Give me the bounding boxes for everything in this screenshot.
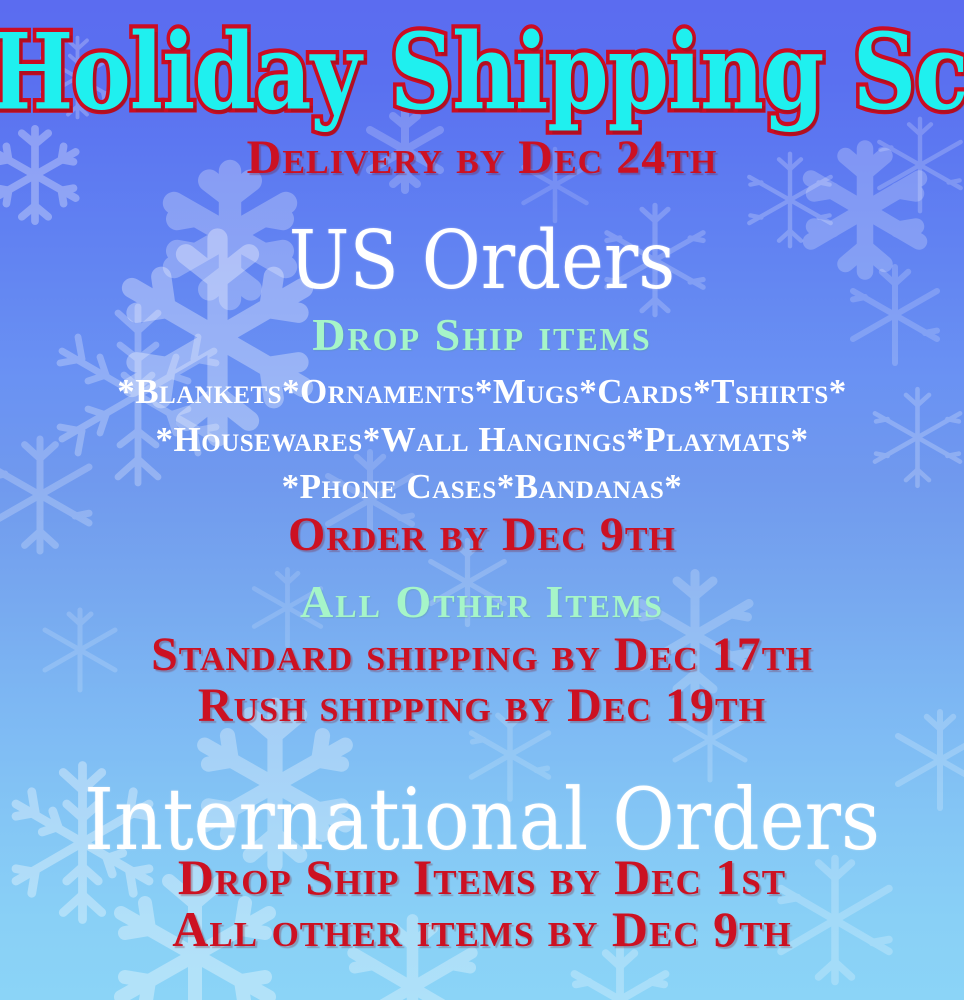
deadline-intl-drop-ship: Drop Ship Items by Dec 1st	[0, 848, 964, 906]
poster-content: Holiday Shipping Schedule Delivery by De…	[0, 0, 964, 1000]
deadline-intl-all-other-items: All other items by Dec 9th	[0, 900, 964, 958]
subheading-drop-ship-items: Drop Ship items	[0, 308, 964, 361]
section-heading-us-orders: US Orders	[0, 213, 964, 307]
holiday-shipping-poster: Holiday Shipping Schedule Delivery by De…	[0, 0, 964, 1000]
deadline-us-drop-ship: Order by Dec 9th	[0, 507, 964, 562]
drop-ship-item-line: *Blankets*Ornaments*Mugs*Cards*Tshirts*	[0, 372, 964, 412]
page-title: Holiday Shipping Schedule	[0, 18, 964, 128]
delivery-deadline-subtitle: Delivery by Dec 24th	[0, 130, 964, 185]
drop-ship-item-line: *Housewares*Wall Hangings*Playmats*	[0, 420, 964, 460]
deadline-us-rush-shipping: Rush shipping by Dec 19th	[0, 678, 964, 733]
drop-ship-item-line: *Phone Cases*Bandanas*	[0, 467, 964, 507]
subheading-all-other-items: All Other Items	[0, 575, 964, 628]
deadline-us-standard-shipping: Standard shipping by Dec 17th	[0, 627, 964, 682]
